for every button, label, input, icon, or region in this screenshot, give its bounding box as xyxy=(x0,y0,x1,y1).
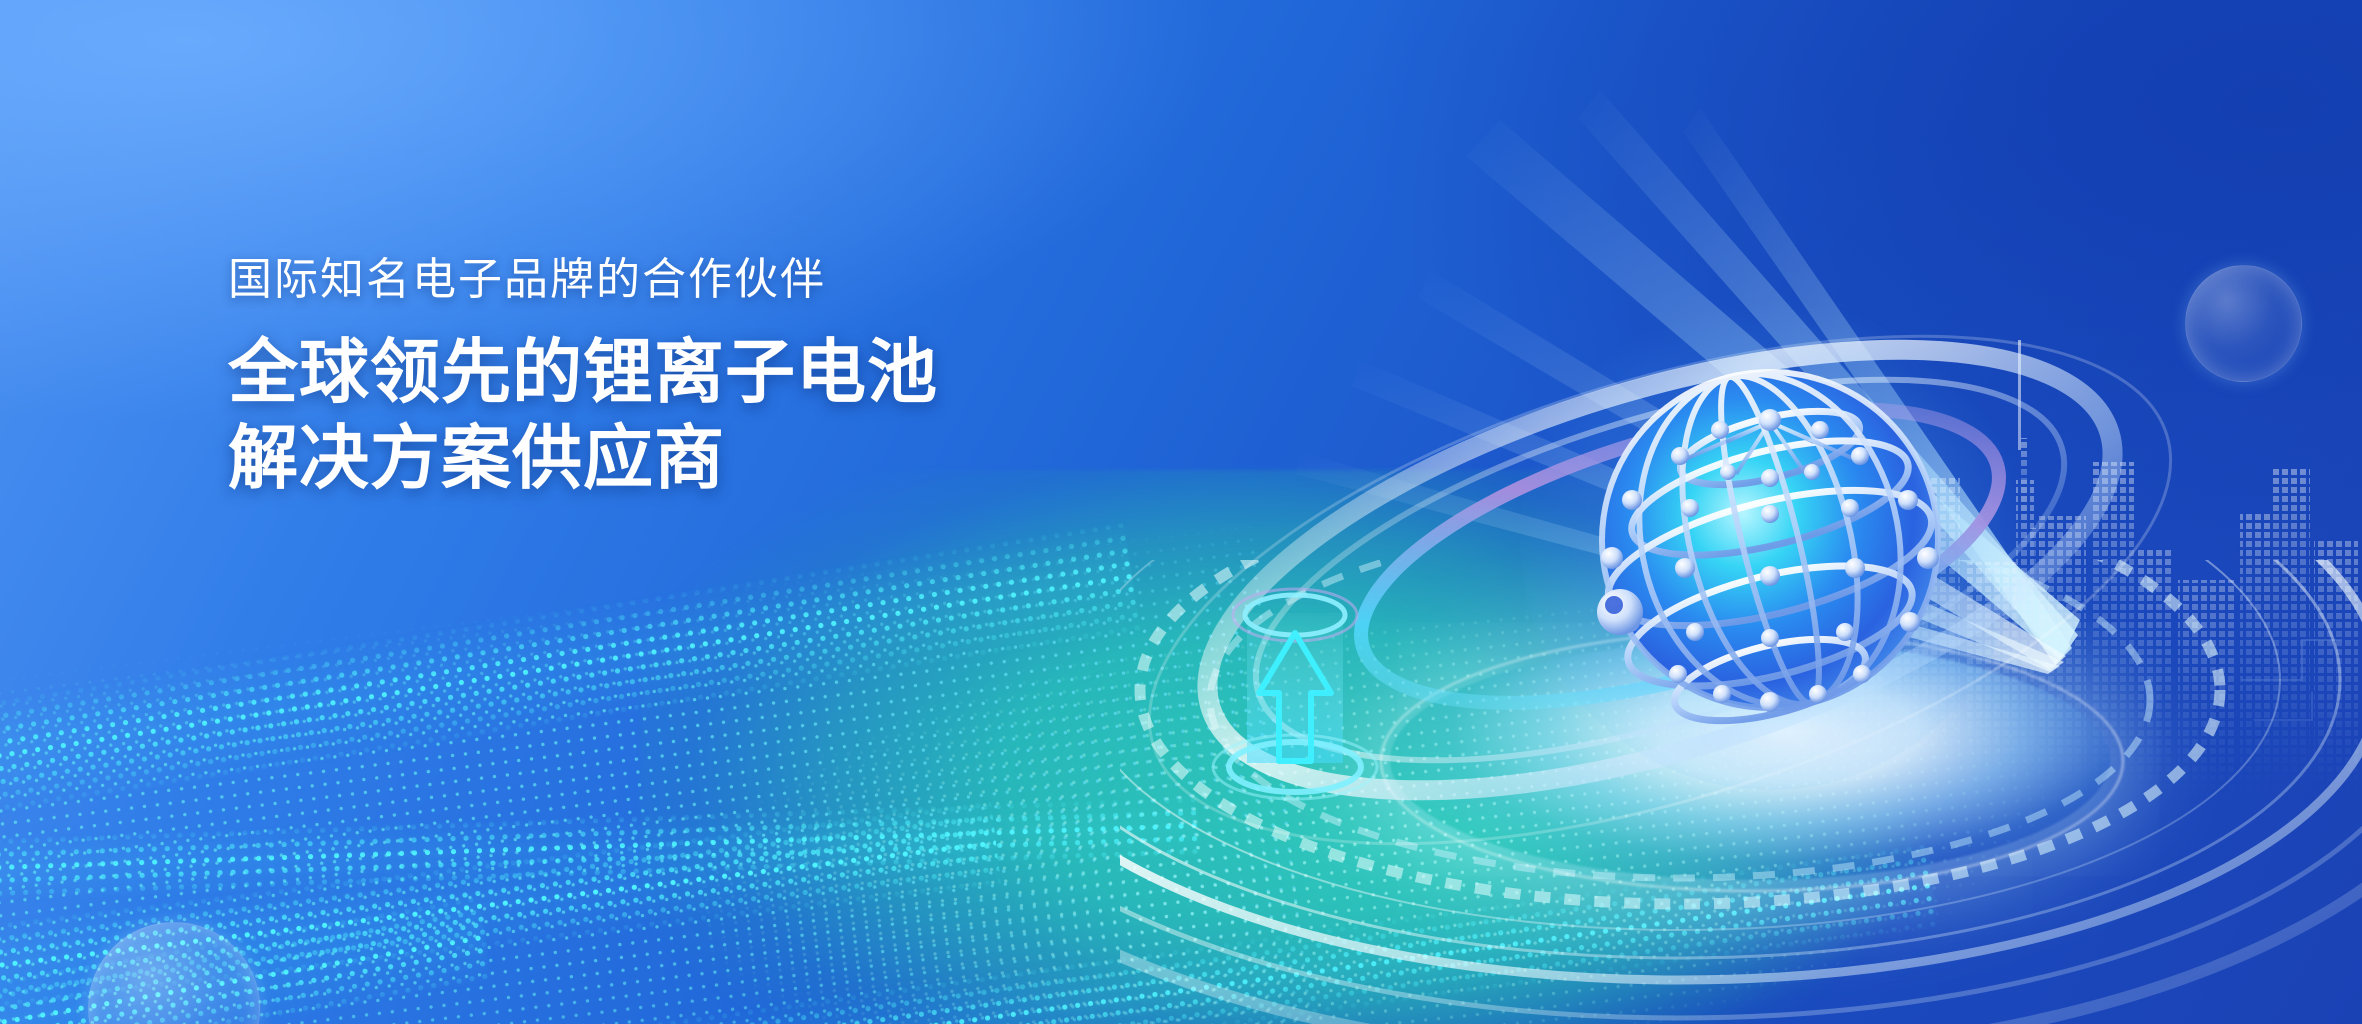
teal-glow-field xyxy=(640,470,2140,1024)
platform-rim xyxy=(1380,630,2124,892)
teal-glow-field-inner xyxy=(980,700,2160,1024)
light-rays xyxy=(1180,60,2080,680)
cyan-wave-band xyxy=(0,892,494,1024)
bubble-sphere-bottom-left xyxy=(88,922,260,1024)
upward-arrow-beam xyxy=(1195,575,1395,805)
orbit-rings xyxy=(1020,260,2220,880)
bubble-sphere-top-right xyxy=(2185,265,2302,382)
cyan-wave-band xyxy=(0,793,1201,907)
hud-arcs xyxy=(1120,560,2362,1024)
pixel-city-skyline xyxy=(1742,280,2362,840)
cyan-wave-band xyxy=(0,798,1002,1017)
halftone-dot-wave-left xyxy=(0,520,1317,1024)
halftone-dot-wave-teal xyxy=(680,543,2221,1024)
wireframe-globe xyxy=(1560,330,1980,750)
globe-glow xyxy=(1520,290,2020,790)
hero-eyebrow: 国际知名电子品牌的合作伙伴 xyxy=(228,256,1128,304)
hero-banner: 国际知名电子品牌的合作伙伴 全球领先的锂离子电池 解决方案供应商 xyxy=(0,0,2362,1024)
hero-headline: 全球领先的锂离子电池 解决方案供应商 xyxy=(228,330,1128,501)
glowing-platform-disc xyxy=(1390,640,2110,880)
cyan-wave-band xyxy=(0,518,1142,821)
cyan-wave-band xyxy=(640,840,1940,1024)
hero-copy: 国际知名电子品牌的合作伙伴 全球领先的锂离子电池 解决方案供应商 xyxy=(228,256,1128,501)
hero-headline-line-1: 全球领先的锂离子电池 xyxy=(228,330,1128,415)
hero-headline-line-2: 解决方案供应商 xyxy=(228,416,1128,501)
